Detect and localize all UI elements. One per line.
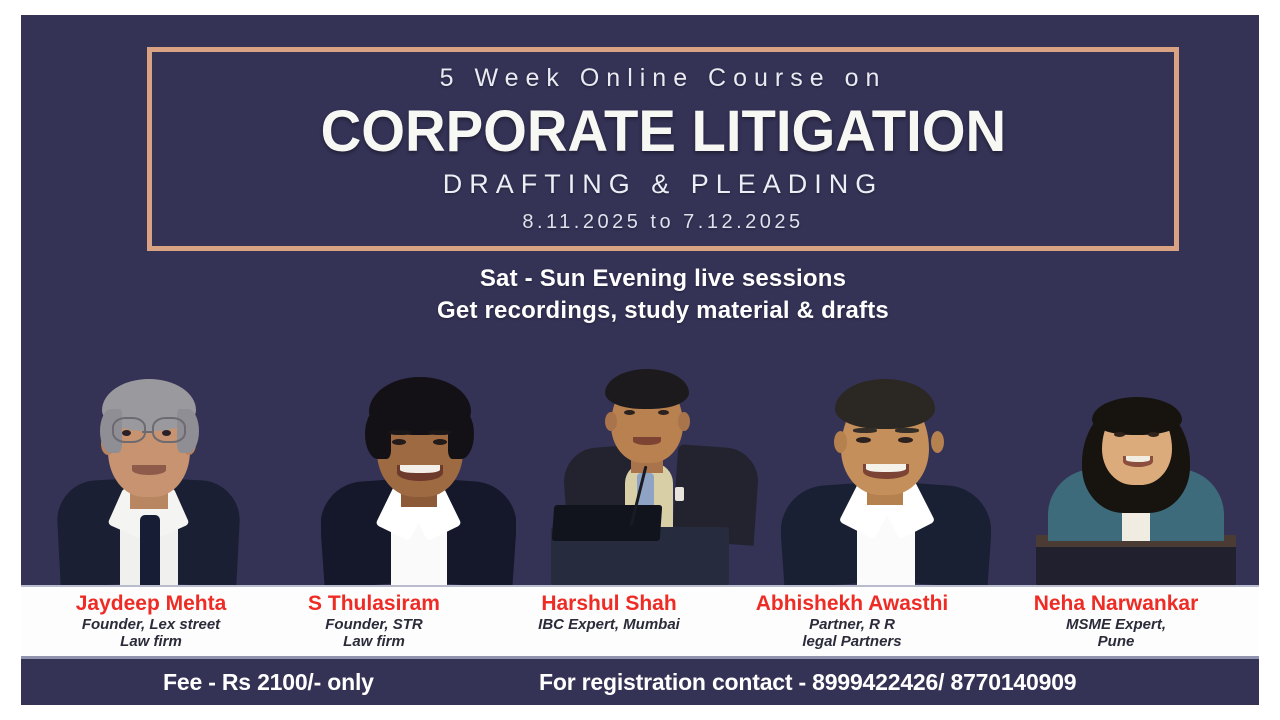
- session-schedule-line: Sat - Sun Evening live sessions: [147, 263, 1179, 295]
- speaker-name: Neha Narwankar: [991, 592, 1241, 616]
- headline-block: 5 Week Online Course on CORPORATE LITIGA…: [147, 47, 1179, 251]
- speaker-photo-abhishekh-awasthi: [781, 355, 991, 585]
- poster-footer-bar: Fee - Rs 2100/- only For registration co…: [21, 656, 1259, 705]
- course-subtitle: DRAFTING & PLEADING: [443, 171, 884, 198]
- speaker-photo-harshul-shah: [541, 360, 771, 585]
- speaker-role-line-2: legal Partners: [721, 633, 983, 650]
- fee-text: Fee - Rs 2100/- only: [163, 669, 374, 696]
- speaker-photo-strip: [21, 355, 1259, 585]
- speaker-name: S Thulasiram: [279, 592, 469, 616]
- speaker-role-line-2: Law firm: [26, 633, 276, 650]
- speaker-entry-1: Jaydeep Mehta Founder, Lex street Law fi…: [26, 592, 276, 650]
- speaker-photo-s-thulasiram: [321, 357, 516, 585]
- speaker-entry-3: Harshul Shah IBC Expert, Mumbai: [499, 592, 719, 633]
- speaker-name: Abhishekh Awasthi: [721, 592, 983, 616]
- course-date-range: 8.11.2025 to 7.12.2025: [522, 212, 803, 232]
- registration-contact-text: For registration contact - 8999422426/ 8…: [539, 669, 1076, 696]
- poster-navy-canvas: 5 Week Online Course on CORPORATE LITIGA…: [21, 15, 1259, 585]
- speaker-role-line-1: MSME Expert,: [991, 616, 1241, 633]
- speaker-role-line-1: IBC Expert, Mumbai: [499, 616, 719, 633]
- speaker-role-line-1: Partner, R R: [721, 616, 983, 633]
- speaker-entry-2: S Thulasiram Founder, STR Law firm: [279, 592, 469, 650]
- speaker-entry-5: Neha Narwankar MSME Expert, Pune: [991, 592, 1241, 650]
- speaker-role-line-2: Law firm: [279, 633, 469, 650]
- course-promo-poster: 5 Week Online Course on CORPORATE LITIGA…: [0, 0, 1280, 720]
- speaker-names-band: Jaydeep Mehta Founder, Lex street Law fi…: [21, 585, 1259, 657]
- speaker-name: Harshul Shah: [499, 592, 719, 616]
- speaker-role-line-1: Founder, Lex street: [26, 616, 276, 633]
- speaker-role-line-2: Pune: [991, 633, 1241, 650]
- session-info-block: Sat - Sun Evening live sessions Get reco…: [147, 263, 1179, 327]
- speaker-photo-neha-narwankar: [1026, 385, 1246, 585]
- speaker-photo-jaydeep-mehta: [56, 355, 241, 585]
- speaker-role-line-1: Founder, STR: [279, 616, 469, 633]
- course-kicker: 5 Week Online Course on: [440, 66, 887, 91]
- speaker-name: Jaydeep Mehta: [26, 592, 276, 616]
- session-materials-line: Get recordings, study material & drafts: [147, 295, 1179, 327]
- speaker-entry-4: Abhishekh Awasthi Partner, R R legal Par…: [721, 592, 983, 650]
- course-title: CORPORATE LITIGATION: [320, 103, 1006, 161]
